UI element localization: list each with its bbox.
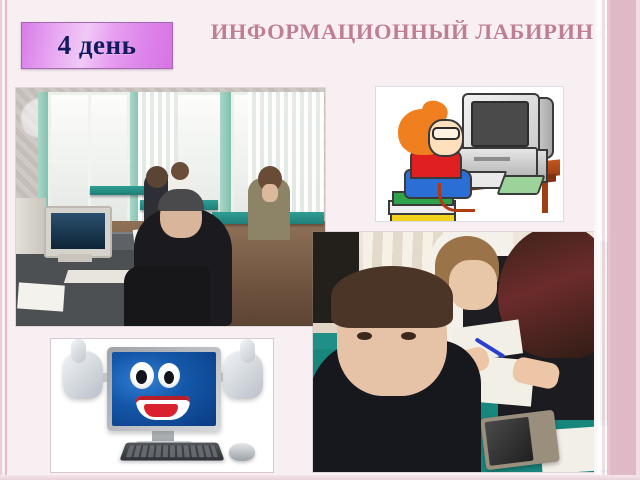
- glasses-icon: [432, 127, 460, 140]
- photo-content: [16, 88, 325, 326]
- pupil-left: [136, 370, 147, 384]
- monitor-face: [107, 347, 221, 431]
- mouse-icon: [229, 443, 255, 461]
- thumbs-up-icon: [63, 351, 103, 399]
- boy-at-computer-clipart: [375, 86, 564, 222]
- pupil-right: [164, 371, 174, 384]
- smiley-monitor-thumbs-up-clipart: [50, 338, 274, 473]
- page-title: ИНФОРМАЦИОННЫЙ ЛАБИРИНТ: [200, 18, 620, 45]
- eye: [357, 332, 372, 340]
- cable: [438, 183, 475, 212]
- student-boy-hair: [331, 266, 453, 328]
- desk-leg: [542, 183, 548, 213]
- man-hair: [158, 189, 204, 211]
- window-mullion: [48, 160, 130, 163]
- student-girl-center-face: [449, 260, 497, 310]
- clipart-content: [376, 87, 563, 221]
- crt-monitor: [44, 206, 112, 258]
- monitor-stand: [58, 254, 92, 262]
- student-head: [171, 162, 189, 180]
- eye: [401, 332, 416, 340]
- keyboard-icon: [119, 443, 224, 461]
- office-chair: [124, 266, 210, 326]
- student-head: [146, 166, 168, 188]
- clipart-content: [51, 339, 273, 472]
- bottom-decorative-border: [0, 475, 640, 480]
- tongue: [144, 404, 178, 417]
- slide-canvas: 4 день ИНФОРМАЦИОННЫЙ ЛАБИРИНТ: [0, 0, 640, 480]
- right-decorative-border: [600, 0, 640, 480]
- day-badge-label: 4 день: [58, 32, 137, 59]
- thumbs-up-icon: [223, 351, 263, 399]
- day-badge: 4 день: [21, 22, 173, 69]
- computer-tower: [16, 198, 46, 254]
- smartphone: [480, 410, 560, 471]
- paper-sheet: [17, 282, 65, 311]
- students-working-photo: [313, 232, 608, 472]
- teacher-face: [262, 184, 278, 202]
- desk-far-left: [90, 186, 150, 195]
- window-frame-green: [220, 92, 231, 225]
- classroom-computer-lab-photo: [16, 88, 325, 326]
- photo-content: [313, 232, 608, 472]
